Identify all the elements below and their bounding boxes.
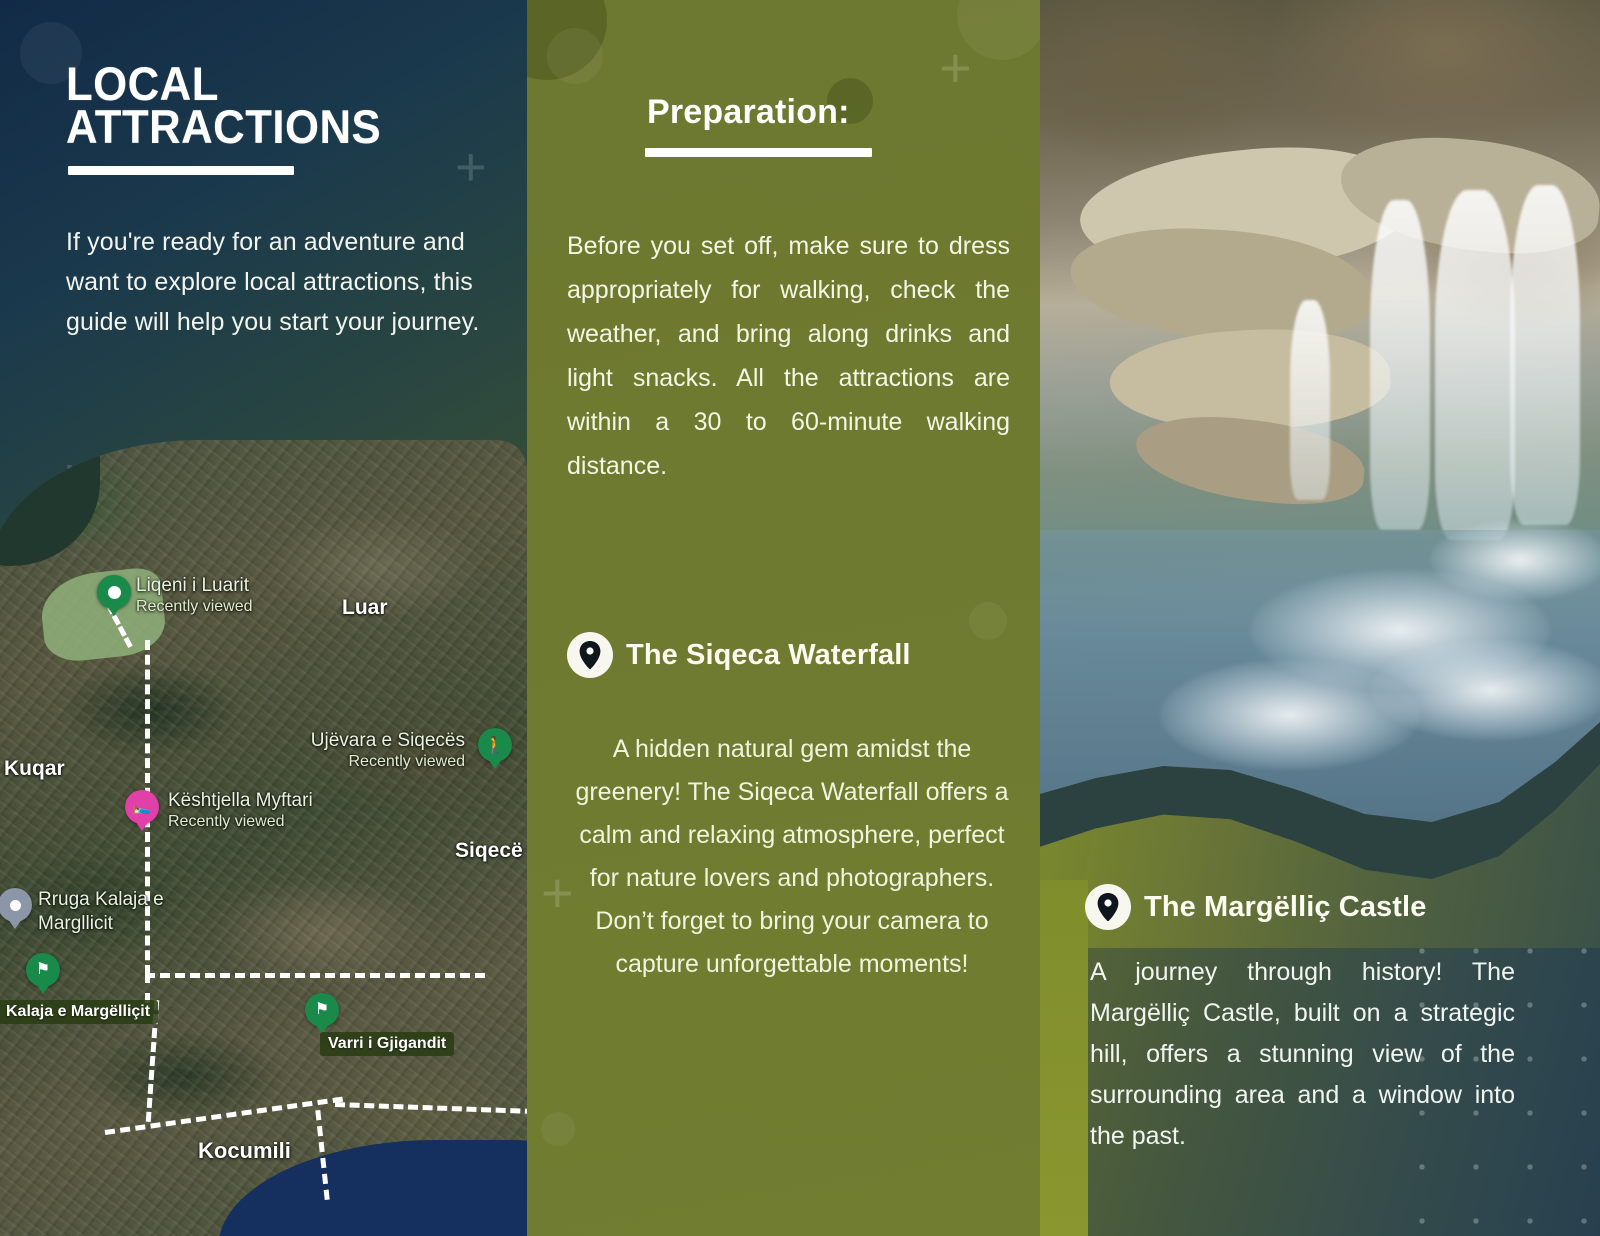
map-label-sub: Recently viewed — [136, 596, 253, 617]
intro-paragraph: If you're ready for an adventure and wan… — [66, 222, 486, 342]
photo-foam — [1160, 660, 1420, 770]
preparation-paragraph: Before you set off, make sure to dress a… — [567, 224, 1010, 488]
flag-icon: ⚑ — [36, 962, 50, 978]
map-marker-keshtjella[interactable]: 🛌 — [125, 790, 159, 824]
poi-waterfall-title: The Siqeca Waterfall — [626, 639, 911, 672]
flag-icon: ⚑ — [315, 1002, 329, 1018]
circle-dot-icon — [108, 586, 121, 599]
decor-circle — [547, 28, 603, 84]
map-label-liqeni: Liqeni i Luarit Recently viewed — [136, 575, 253, 617]
map-label-title: Ujëvara e Siqecës — [311, 730, 465, 751]
map-label-keshtjella: Kështjella Myftari Recently viewed — [168, 790, 313, 832]
map-pin-icon — [567, 632, 613, 678]
map-label-rruga: Rruga Kalaja e Margllicit — [38, 888, 208, 936]
plus-decor-icon: + — [455, 140, 487, 194]
title-underline — [68, 166, 294, 175]
map-chip-kalaja[interactable]: Kalaja e Margëlliçit — [0, 1000, 158, 1024]
preparation-heading: Preparation: — [647, 93, 850, 132]
map-label-luar: Luar — [342, 597, 388, 618]
photo-waterfall-stream — [1510, 185, 1580, 525]
photo-waterfall-stream — [1290, 300, 1330, 500]
map-texture — [0, 440, 527, 1236]
poi-waterfall-paragraph: A hidden natural gem amidst the greenery… — [567, 728, 1017, 986]
map-label-sub: Recently viewed — [168, 811, 313, 832]
map-route-segment — [145, 973, 485, 978]
decor-circle — [969, 602, 1007, 640]
circle-dot-icon — [10, 900, 21, 911]
map-chip-varri[interactable]: Varri i Gjigandit — [320, 1032, 454, 1056]
photo-waterfall-stream — [1370, 200, 1430, 530]
panel-edge-olive — [1040, 880, 1088, 1236]
poi-castle-header: The Margëlliç Castle — [1085, 884, 1426, 930]
photo-foam — [1430, 520, 1600, 600]
photo-waterfall-stream — [1435, 190, 1515, 540]
map-marker-liqeni[interactable] — [97, 575, 131, 609]
hiking-icon: 🚶 — [484, 737, 505, 754]
map-route-segment — [145, 973, 150, 1003]
page-title-line2: ATTRACTIONS — [66, 100, 381, 153]
poi-castle-paragraph: A journey through history! The Margëlliç… — [1090, 952, 1515, 1157]
decor-circle — [541, 1112, 575, 1146]
map-label-title: Liqeni i Luarit — [136, 575, 249, 596]
map-marker-varri[interactable]: ⚑ — [305, 993, 339, 1027]
map-label-kuqar: Kuqar — [4, 758, 65, 779]
map-image[interactable]: Liqeni i Luarit Recently viewed Luar Kuq… — [0, 440, 527, 1236]
map-pin-icon — [1085, 884, 1131, 930]
map-label-title: Kështjella Myftari — [168, 790, 313, 811]
preparation-underline — [645, 148, 872, 157]
page-title: LOCALATTRACTIONS — [66, 62, 381, 148]
map-label-ujevara: Ujëvara e Siqecës Recently viewed — [311, 730, 465, 772]
plus-decor-icon: + — [939, 40, 972, 96]
brochure-page: + + LOCALATTRACTIONS If you're ready for… — [0, 0, 1600, 1236]
map-label-kocumili: Kocumili — [198, 1140, 291, 1161]
map-marker-kalaja[interactable]: ⚑ — [26, 953, 60, 987]
poi-waterfall-header: The Siqeca Waterfall — [567, 632, 911, 678]
waterfall-photo — [1040, 0, 1600, 830]
lodging-icon: 🛌 — [133, 800, 152, 815]
map-marker-ujevara[interactable]: 🚶 — [478, 728, 512, 762]
map-label-siqece: Siqecë — [455, 840, 523, 861]
map-label-sub: Recently viewed — [311, 751, 465, 772]
panel-local-attractions: + + LOCALATTRACTIONS If you're ready for… — [0, 0, 527, 1236]
poi-castle-title: The Margëlliç Castle — [1144, 891, 1426, 924]
panel-preparation: + + Preparation: Before you set off, mak… — [527, 0, 1040, 1236]
